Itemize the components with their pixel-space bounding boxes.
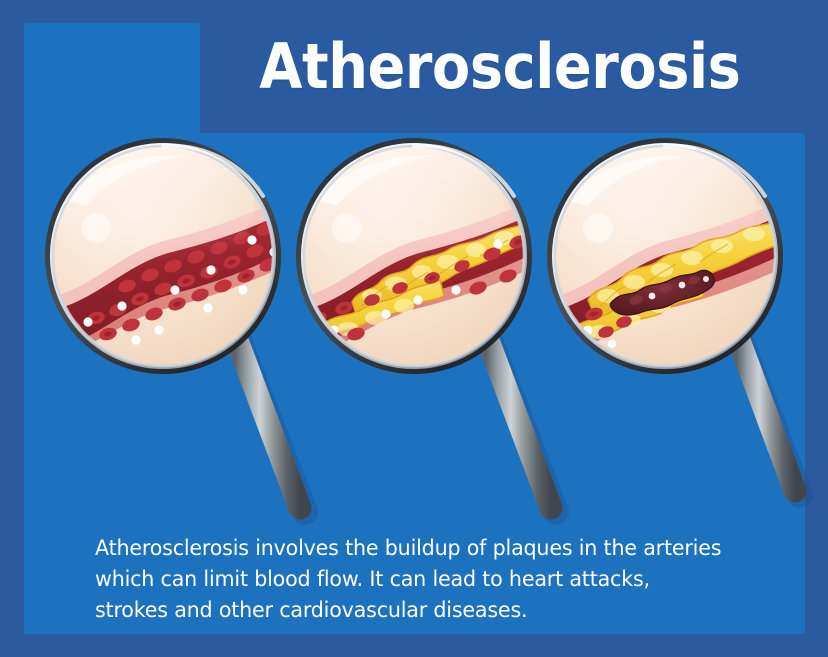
atherosclerosis-infographic: Atherosclerosis <box>0 0 828 657</box>
title-bar: Atherosclerosis <box>0 0 828 133</box>
caption-text: Atherosclerosis involves the buildup of … <box>95 533 729 626</box>
page-title: Atherosclerosis <box>88 30 740 103</box>
